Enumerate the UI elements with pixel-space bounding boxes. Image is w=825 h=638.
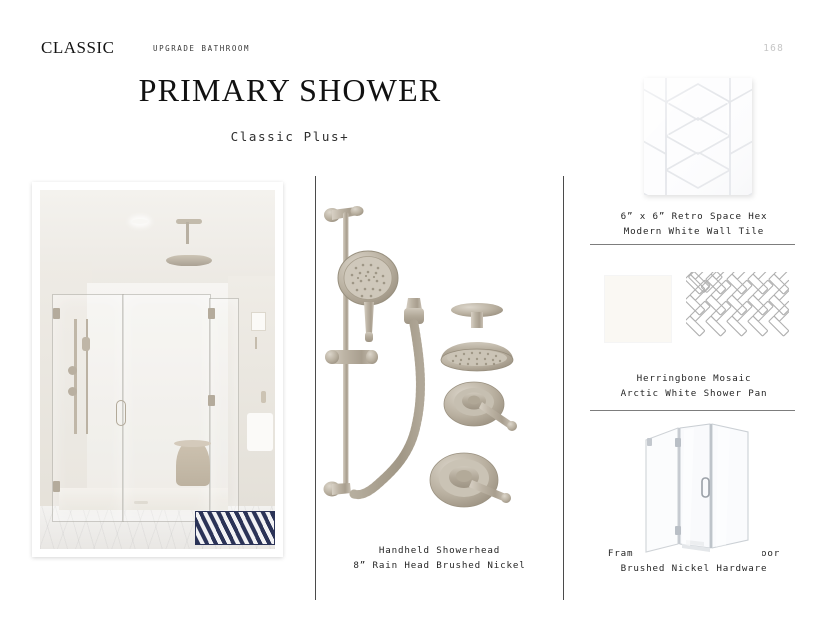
fixtures-illustration — [316, 182, 563, 532]
room-photo — [40, 190, 275, 549]
fixtures-column: Handheld Showerhead 8” Rain Head Brushed… — [316, 176, 563, 600]
brushed-nickel-fixtures-icon — [316, 182, 563, 532]
photo-hinge — [208, 308, 215, 319]
photo-rain-showerhead — [166, 255, 212, 266]
photo-slide-bar — [74, 319, 77, 434]
wall-tile-caption-line-1: 6” x 6” Retro Space Hex — [577, 209, 811, 224]
photo-hinge — [53, 481, 60, 492]
design-board-page: CLASSIC UPGRADE BATHROOM 168 PRIMARY SHO… — [0, 0, 825, 638]
photo-striped-rug — [195, 511, 275, 545]
section-label: UPGRADE BATHROOM — [153, 45, 250, 53]
page-subtitle: Classic Plus+ — [0, 129, 580, 144]
wall-tile-caption-line-2: Modern White Wall Tile — [577, 224, 811, 239]
herringbone-pattern-icon — [686, 272, 789, 348]
arctic-white-color-swatch — [605, 276, 671, 342]
photo-bottle — [261, 391, 266, 403]
photo-glass-panel-right — [209, 298, 239, 515]
photo-rain-arm — [186, 222, 189, 244]
photo-glass-door — [122, 294, 211, 522]
photo-sconce-stem — [255, 337, 257, 349]
photo-door-handle — [116, 400, 126, 426]
shower-pan-caption-line-1: Herringbone Mosaic — [577, 371, 811, 386]
photo-rain-flange — [176, 219, 202, 224]
room-photo-frame — [32, 182, 283, 557]
photo-hinge — [208, 395, 215, 406]
photo-hinge — [53, 308, 60, 319]
shower-pan-caption: Herringbone Mosaic Arctic White Shower P… — [577, 371, 811, 401]
shower-door-icon — [634, 418, 762, 558]
hex-tile-swatch — [644, 78, 752, 195]
photo-handheld-showerhead — [82, 337, 90, 351]
photo-toilet — [247, 413, 273, 451]
wall-tile-caption: 6” x 6” Retro Space Hex Modern White Wal… — [577, 209, 811, 239]
photo-wall-sconce — [251, 312, 266, 331]
photo-stool — [176, 441, 210, 486]
page-header: CLASSIC UPGRADE BATHROOM 168 — [0, 0, 825, 70]
photo-stool-top — [174, 440, 211, 447]
frameless-shower-door-swatch — [634, 418, 762, 558]
fixtures-caption-line-2: 8” Rain Head Brushed Nickel — [316, 558, 563, 573]
hexagon-tile-icon — [644, 78, 752, 195]
page-number: 168 — [763, 44, 784, 54]
herringbone-mosaic-swatch — [686, 272, 789, 348]
fixtures-caption: Handheld Showerhead 8” Rain Head Brushed… — [316, 543, 563, 573]
brand-wordmark: CLASSIC — [41, 39, 114, 56]
shower-pan-caption-line-2: Arctic White Shower Pan — [577, 386, 811, 401]
photo-recessed-light — [132, 219, 148, 224]
fixtures-caption-line-1: Handheld Showerhead — [316, 543, 563, 558]
shower-door-caption-line-2: Brushed Nickel Hardware — [577, 561, 811, 576]
title-block: PRIMARY SHOWER Classic Plus+ — [0, 72, 580, 144]
page-title: PRIMARY SHOWER — [0, 72, 580, 109]
